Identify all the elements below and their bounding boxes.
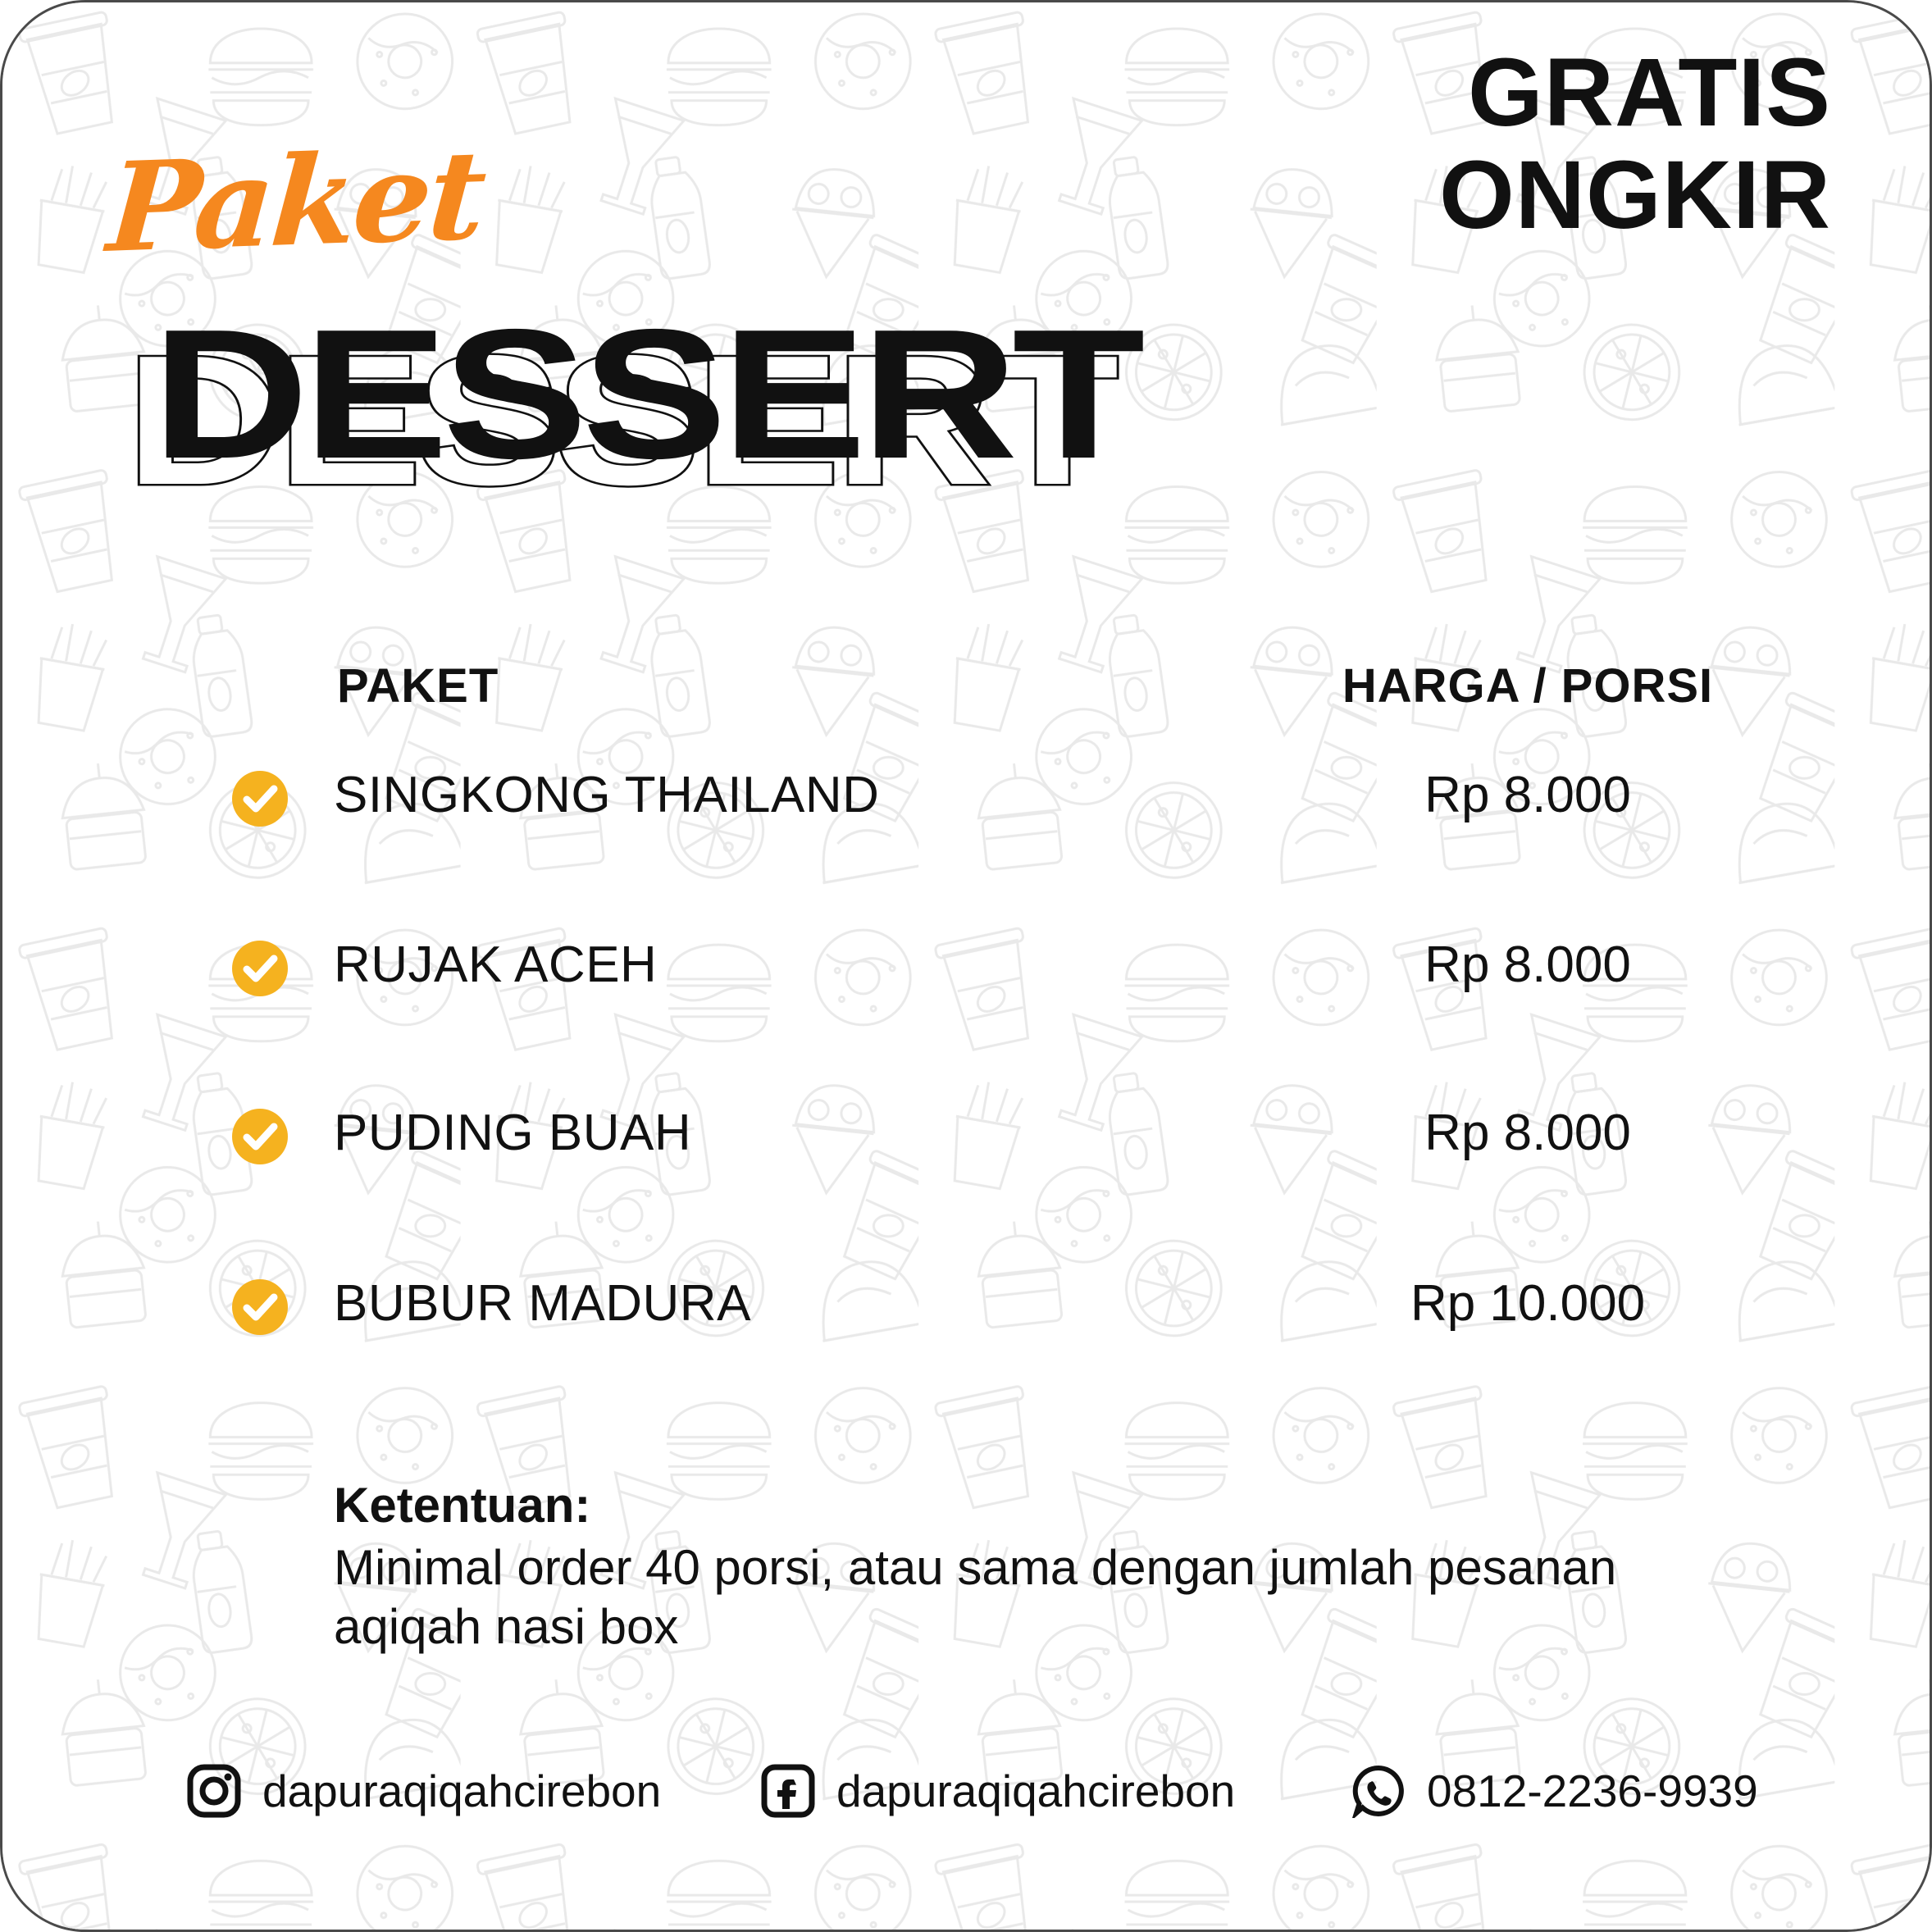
dessert-package-poster: Paket DESSERT DESSERT GRATIS ONGKIR PAKE… bbox=[0, 0, 1932, 1932]
instagram-icon bbox=[187, 1764, 241, 1818]
instagram-handle: dapuraqiqahcirebon bbox=[262, 1765, 661, 1817]
menu-table-header: PAKET HARGA / PORSI bbox=[2, 658, 1930, 716]
package-price: Rp 8.000 bbox=[1315, 936, 1741, 994]
package-name: SINGKONG THAILAND bbox=[334, 766, 879, 824]
facebook-icon bbox=[761, 1764, 815, 1818]
table-row: PUDING BUAH Rp 8.000 bbox=[2, 1099, 1930, 1178]
terms-title: Ketentuan: bbox=[334, 1477, 1777, 1533]
check-circle-icon bbox=[230, 1107, 289, 1166]
terms-section: Ketentuan: Minimal order 40 porsi, atau … bbox=[334, 1477, 1777, 1656]
facebook-handle: dapuraqiqahcirebon bbox=[836, 1765, 1235, 1817]
package-name: BUBUR MADURA bbox=[334, 1274, 751, 1333]
whatsapp-number: 0812-2236-9939 bbox=[1427, 1765, 1758, 1817]
package-price: Rp 8.000 bbox=[1315, 766, 1741, 824]
main-title: DESSERT DESSERT bbox=[125, 302, 1192, 474]
package-name: RUJAK ACEH bbox=[334, 936, 657, 994]
whatsapp-icon bbox=[1351, 1764, 1406, 1818]
script-heading: Paket bbox=[104, 134, 487, 270]
package-price: Rp 8.000 bbox=[1315, 1104, 1741, 1162]
check-circle-icon bbox=[230, 1278, 289, 1337]
check-circle-icon bbox=[230, 939, 289, 998]
package-name: PUDING BUAH bbox=[334, 1104, 691, 1162]
package-price: Rp 10.000 bbox=[1315, 1274, 1741, 1333]
whatsapp-contact[interactable]: 0812-2236-9939 bbox=[1351, 1764, 1758, 1818]
column-header-package: PAKET bbox=[337, 658, 499, 713]
footer-contacts: dapuraqiqahcirebon dapuraqiqahcirebon 08… bbox=[2, 1764, 1930, 1854]
table-row: SINGKONG THAILAND Rp 8.000 bbox=[2, 761, 1930, 840]
table-row: BUBUR MADURA Rp 10.000 bbox=[2, 1269, 1930, 1348]
instagram-contact[interactable]: dapuraqiqahcirebon bbox=[187, 1764, 661, 1818]
table-row: RUJAK ACEH Rp 8.000 bbox=[2, 931, 1930, 1009]
column-header-price: HARGA / PORSI bbox=[1315, 658, 1741, 713]
main-title-solid-layer: DESSERT bbox=[152, 302, 1139, 486]
terms-body: Minimal order 40 porsi, atau sama dengan… bbox=[334, 1538, 1777, 1656]
check-circle-icon bbox=[230, 769, 289, 828]
facebook-contact[interactable]: dapuraqiqahcirebon bbox=[761, 1764, 1235, 1818]
free-shipping-badge: GRATIS ONGKIR bbox=[1439, 42, 1831, 247]
